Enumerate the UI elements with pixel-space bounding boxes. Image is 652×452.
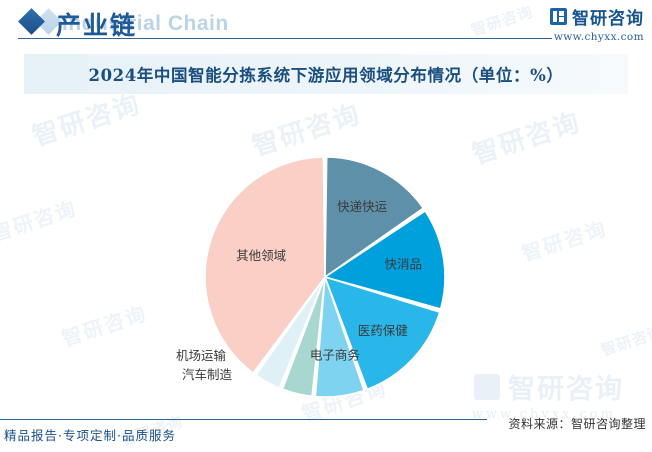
footer-slogan: 精品报告·专项定制·品质服务 xyxy=(4,425,176,444)
page-title: 2024年中国智能分拣系统下游应用领域分布情况（单位：%） xyxy=(88,62,563,86)
footer-source: 资料来源：智研咨询整理 xyxy=(508,415,646,432)
pie-slice-label: 电子商务 xyxy=(310,348,360,363)
page-header: Industrial Chain 产业链 智研咨询 www.chyxx.com xyxy=(0,0,652,48)
header-divider xyxy=(18,38,552,39)
pie-chart: 快递快运快消品医药保健电子商务汽车制造机场运输其他领域 xyxy=(0,96,652,401)
brand-url[interactable]: www.chyxx.com xyxy=(550,31,644,43)
pie-slice-label: 汽车制造 xyxy=(182,367,233,382)
pie-chart-svg: 快递快运快消品医药保健电子商务汽车制造机场运输其他领域 xyxy=(0,96,652,401)
chart-title-banner: 2024年中国智能分拣系统下游应用领域分布情况（单位：%） xyxy=(24,54,628,94)
footer-divider xyxy=(0,419,487,420)
diamond-icon xyxy=(18,8,45,35)
pie-slice-label: 快消品 xyxy=(384,257,422,272)
pie-slice-label: 快递快运 xyxy=(337,199,388,214)
chyxx-logo-icon xyxy=(550,8,567,25)
brand-name: 智研咨询 xyxy=(572,4,644,29)
pie-slice-label: 医药保健 xyxy=(358,323,409,338)
pie-slice-label: 机场运输 xyxy=(176,348,227,363)
report-page: 智研咨询 智研咨询 智研咨询 智研咨询 智研咨询 智研咨询 智研咨询 智研咨询 … xyxy=(0,0,652,452)
pie-slice-label: 其他领域 xyxy=(236,248,286,263)
section-title-cn: 产业链 xyxy=(56,6,137,42)
brand-logo[interactable]: 智研咨询 www.chyxx.com xyxy=(550,4,644,43)
